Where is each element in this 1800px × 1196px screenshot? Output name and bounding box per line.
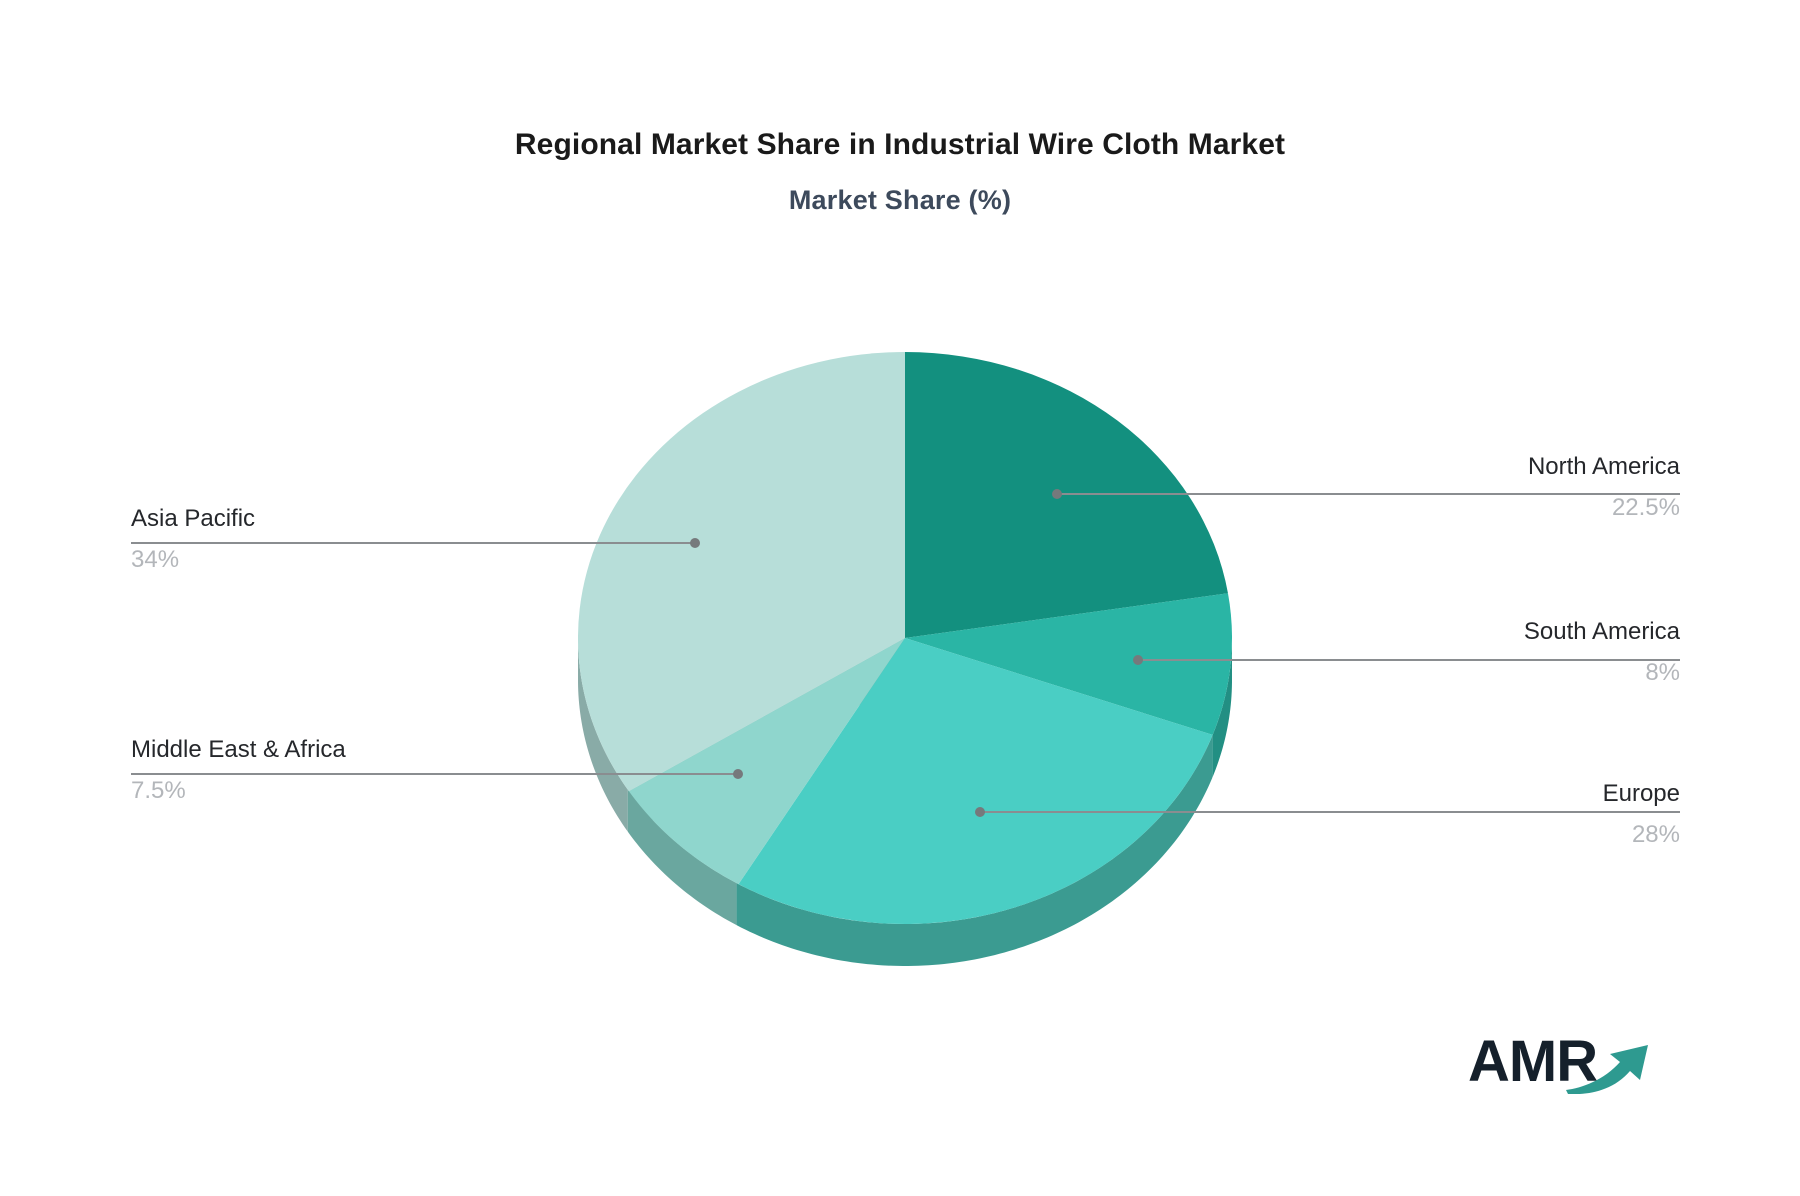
pie-chart-graphic xyxy=(0,0,1800,1196)
callout-label-middle-east-africa: Middle East & Africa xyxy=(131,738,561,762)
callout-label-asia-pacific: Asia Pacific xyxy=(131,507,561,531)
callout-north-america: North America 22.5% xyxy=(1280,455,1680,520)
callout-value-europe: 28% xyxy=(1280,823,1680,847)
callout-value-north-america: 22.5% xyxy=(1280,496,1680,520)
callout-label-north-america: North America xyxy=(1280,455,1680,479)
callout-label-europe: Europe xyxy=(1280,782,1680,806)
amr-logo: AMR xyxy=(1468,1024,1648,1100)
pie-slices xyxy=(578,352,1232,924)
callout-asia-pacific: Asia Pacific 34% xyxy=(131,507,561,572)
arrow-up-right-curved-icon xyxy=(1564,1032,1654,1094)
callout-middle-east-africa: Middle East & Africa 7.5% xyxy=(131,738,561,803)
leader-dot-2 xyxy=(975,807,985,817)
callout-value-south-america: 8% xyxy=(1280,661,1680,685)
callout-south-america: South America 8% xyxy=(1280,620,1680,685)
leader-dot-0 xyxy=(1052,489,1062,499)
leader-dot-4 xyxy=(733,769,743,779)
leader-dot-3 xyxy=(690,538,700,548)
callout-europe: Europe 28% xyxy=(1280,782,1680,847)
callout-value-asia-pacific: 34% xyxy=(131,548,561,572)
callout-value-middle-east-africa: 7.5% xyxy=(131,779,561,803)
pie-chart-page: Regional Market Share in Industrial Wire… xyxy=(0,0,1800,1196)
leader-dot-1 xyxy=(1133,655,1143,665)
callout-label-south-america: South America xyxy=(1280,620,1680,644)
